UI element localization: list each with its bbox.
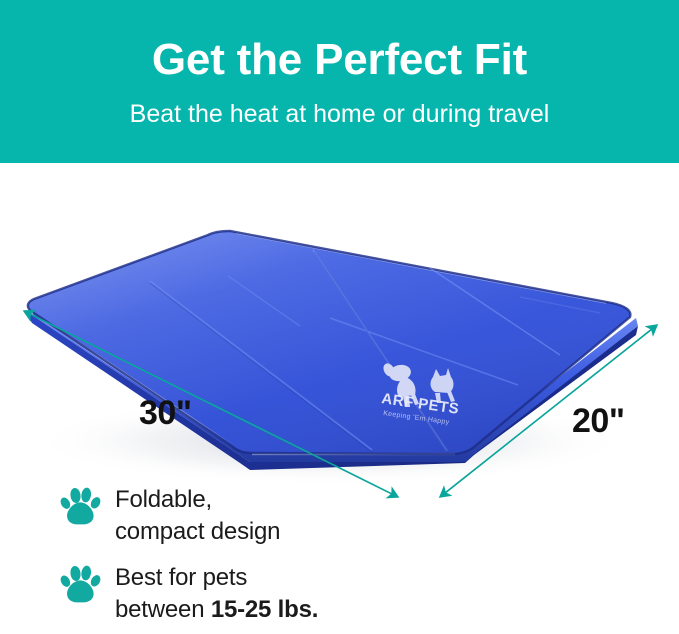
product-infographic: Get the Perfect Fit Beat the heat at hom… (0, 0, 679, 634)
feature-line-2: between 15-25 lbs. (115, 594, 318, 626)
paw-print-icon (58, 564, 102, 605)
cooling-mat-illustration: ARF PETS Keeping 'Em Happy (0, 163, 679, 503)
feature-item-pet-weight: Best for pets between 15-25 lbs. (58, 562, 458, 625)
feature-line-1: Best for pets (115, 562, 318, 594)
feature-weight-range: 15-25 lbs. (211, 596, 318, 623)
feature-text-pet-weight: Best for pets between 15-25 lbs. (115, 562, 318, 625)
width-dimension-label: 30" (139, 396, 191, 430)
page-subtitle: Beat the heat at home or during travel (0, 101, 679, 129)
feature-line-2: compact design (115, 516, 280, 548)
depth-dimension-label: 20" (572, 404, 624, 438)
header-banner: Get the Perfect Fit Beat the heat at hom… (0, 0, 679, 163)
feature-line-1: Foldable, (115, 484, 280, 516)
feature-list: Foldable, compact design Best for pets b… (58, 484, 458, 634)
paw-print-icon (58, 486, 102, 527)
page-title: Get the Perfect Fit (0, 37, 679, 83)
feature-item-foldable: Foldable, compact design (58, 484, 458, 547)
feature-line-2-prefix: between (115, 596, 211, 623)
feature-text-foldable: Foldable, compact design (115, 484, 280, 547)
product-image: ARF PETS Keeping 'Em Happy (0, 163, 679, 503)
